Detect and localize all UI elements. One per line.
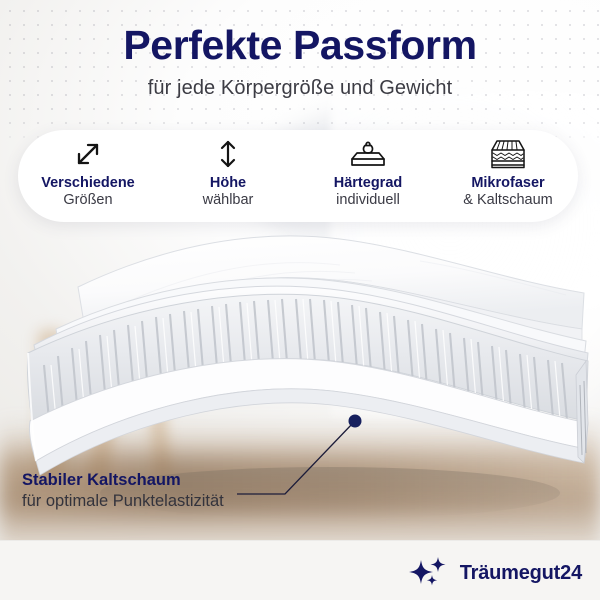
feature-title: Höhe xyxy=(161,175,296,192)
brand-logo[interactable]: Träumegut24 xyxy=(407,556,582,590)
callout-text: Stabiler Kaltschaum für optimale Punktel… xyxy=(22,470,224,512)
page-subtitle: für jede Körpergröße und Gewicht xyxy=(0,77,600,100)
sparkle-stars-icon xyxy=(407,556,453,590)
mattress-with-weight-icon xyxy=(301,136,436,172)
header: Perfekte Passform für jede Körpergröße u… xyxy=(0,0,600,100)
feature-item-material: Mikrofaser & Kaltschaum xyxy=(441,136,576,209)
feature-title: Mikrofaser xyxy=(441,175,576,192)
diagonal-resize-arrow-icon xyxy=(21,136,156,172)
page-title: Perfekte Passform xyxy=(0,24,600,67)
feature-subtitle: individuell xyxy=(301,192,436,209)
feature-subtitle: wählbar xyxy=(161,192,296,209)
feature-subtitle: & Kaltschaum xyxy=(441,192,576,209)
feature-item-height: Höhe wählbar xyxy=(161,136,296,209)
feature-title: Härtegrad xyxy=(301,175,436,192)
feature-title: Verschiedene xyxy=(21,175,156,192)
layered-mattress-icon xyxy=(441,136,576,172)
product-marketing-banner: Perfekte Passform für jede Körpergröße u… xyxy=(0,0,600,600)
callout-subtitle: für optimale Punktelastizität xyxy=(22,491,224,512)
callout-title: Stabiler Kaltschaum xyxy=(22,470,224,491)
feature-item-sizes: Verschiedene Größen xyxy=(21,136,156,209)
feature-item-firmness: Härtegrad individuell xyxy=(301,136,436,209)
feature-list: Verschiedene Größen Höhe wählbar xyxy=(18,130,578,222)
feature-subtitle: Größen xyxy=(21,192,156,209)
vertical-height-arrow-icon xyxy=(161,136,296,172)
brand-name: Träumegut24 xyxy=(460,562,582,585)
